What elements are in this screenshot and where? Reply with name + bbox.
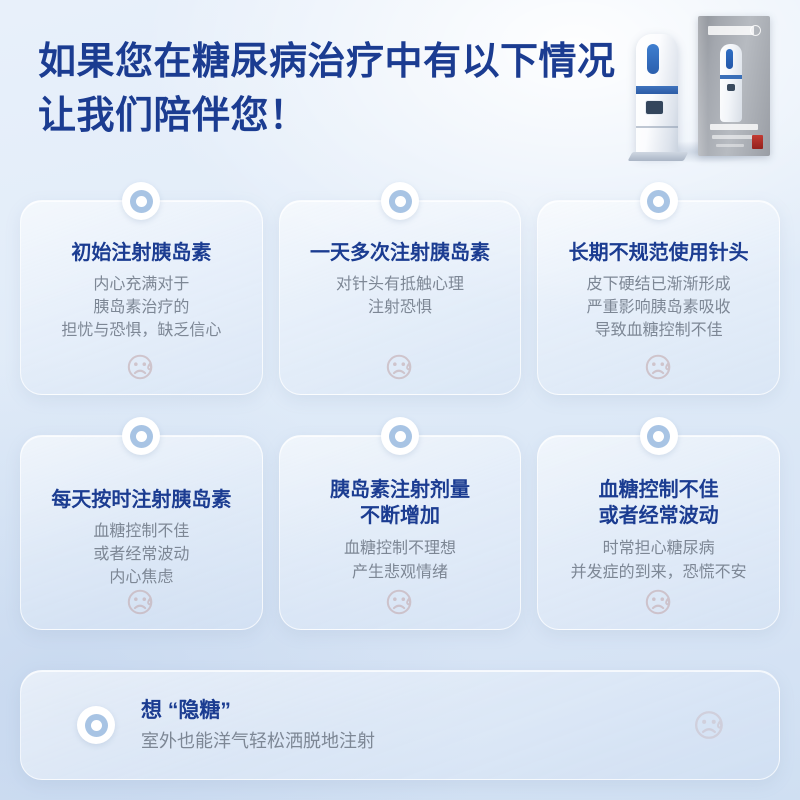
highlight-card-text: 想 “隐糖” 室外也能洋气轻松洒脱地注射 xyxy=(141,697,375,754)
injector-stand xyxy=(628,152,689,161)
device-ring xyxy=(720,75,742,79)
box-caption-primary xyxy=(710,124,758,130)
device-cap xyxy=(726,49,733,69)
card-title: 想 “隐糖” xyxy=(141,697,375,724)
card-body: 时常担心糖尿病 并发症的到来，恐慌不安 xyxy=(538,529,779,584)
symptom-card[interactable]: 胰岛素注射剂量 不断增加 血糖控制不理想 产生悲观情绪 xyxy=(279,435,522,630)
sad-face-icon xyxy=(644,352,674,382)
symptom-card-grid: 初始注射胰岛素 内心充满对于 胰岛素治疗的 担忧与恐惧，缺乏信心 一天多次注射胰… xyxy=(20,200,780,780)
product-box xyxy=(698,16,770,156)
target-ring-icon xyxy=(381,182,419,220)
injector-seam xyxy=(636,126,678,128)
page-title: 如果您在糖尿病治疗中有以下情况 让我们陪伴您！ xyxy=(38,36,658,144)
sad-face-icon xyxy=(385,352,415,382)
sad-face-icon xyxy=(385,587,415,617)
card-body: 皮下硬结已渐渐形成 严重影响胰岛素吸收 导致血糖控制不佳 xyxy=(538,267,779,343)
target-ring-icon xyxy=(381,417,419,455)
card-body: 对针头有抵触心理 注射恐惧 xyxy=(280,267,521,320)
brand-logo-icon xyxy=(708,26,754,35)
promo-page: 如果您在糖尿病治疗中有以下情况 让我们陪伴您！ xyxy=(0,0,800,800)
card-body: 血糖控制不理想 产生悲观情绪 xyxy=(280,529,521,584)
device-window xyxy=(727,84,735,91)
card-row-1: 初始注射胰岛素 内心充满对于 胰岛素治疗的 担忧与恐惧，缺乏信心 一天多次注射胰… xyxy=(20,200,780,395)
sad-face-icon xyxy=(126,352,156,382)
box-caption-tertiary xyxy=(716,144,744,147)
card-body: 室外也能洋气轻松洒脱地注射 xyxy=(141,730,375,753)
symptom-card[interactable]: 每天按时注射胰岛素 血糖控制不佳 或者经常波动 内心焦虑 xyxy=(20,435,263,630)
sad-face-icon xyxy=(126,587,156,617)
box-seal-icon xyxy=(752,135,763,149)
target-ring-icon xyxy=(122,182,160,220)
sad-face-icon xyxy=(693,708,727,742)
symptom-card[interactable]: 血糖控制不佳 或者经常波动 时常担心糖尿病 并发症的到来，恐慌不安 xyxy=(537,435,780,630)
target-ring-icon xyxy=(640,417,678,455)
target-ring-icon xyxy=(122,417,160,455)
injector-device xyxy=(636,34,678,156)
injector-display-window xyxy=(645,100,664,115)
symptom-card[interactable]: 长期不规范使用针头 皮下硬结已渐渐形成 严重影响胰岛素吸收 导致血糖控制不佳 xyxy=(537,200,780,395)
card-row-2: 每天按时注射胰岛素 血糖控制不佳 或者经常波动 内心焦虑 胰岛素注射剂量 不断增… xyxy=(20,435,780,630)
symptom-card[interactable]: 初始注射胰岛素 内心充满对于 胰岛素治疗的 担忧与恐惧，缺乏信心 xyxy=(20,200,263,395)
card-body: 内心充满对于 胰岛素治疗的 担忧与恐惧，缺乏信心 xyxy=(21,267,262,343)
box-device-illustration xyxy=(720,44,742,122)
target-ring-icon xyxy=(77,706,115,744)
card-body: 血糖控制不佳 或者经常波动 内心焦虑 xyxy=(21,514,262,590)
product-image xyxy=(628,4,778,169)
sad-face-icon xyxy=(644,587,674,617)
highlight-card[interactable]: 想 “隐糖” 室外也能洋气轻松洒脱地注射 xyxy=(20,670,780,780)
target-ring-icon xyxy=(640,182,678,220)
injector-cap xyxy=(647,44,659,74)
box-caption-secondary xyxy=(712,135,756,139)
header: 如果您在糖尿病治疗中有以下情况 让我们陪伴您！ xyxy=(0,0,800,185)
symptom-card[interactable]: 一天多次注射胰岛素 对针头有抵触心理 注射恐惧 xyxy=(279,200,522,395)
injector-band xyxy=(636,86,678,94)
